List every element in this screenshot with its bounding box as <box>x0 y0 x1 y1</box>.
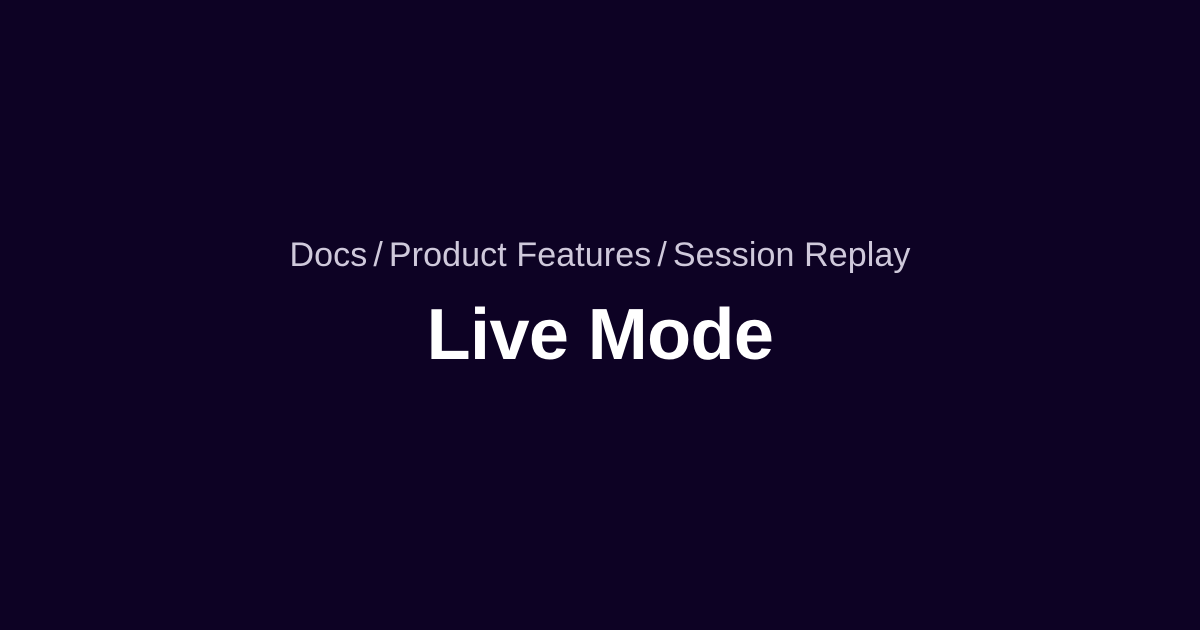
breadcrumb-separator: / <box>651 236 673 274</box>
breadcrumb-item-product-features[interactable]: Product Features <box>389 236 651 274</box>
breadcrumb-item-session-replay[interactable]: Session Replay <box>673 236 911 274</box>
og-card: Docs/Product Features/Session Replay Liv… <box>0 0 1200 630</box>
breadcrumb-item-docs[interactable]: Docs <box>289 236 367 274</box>
card-content: Docs/Product Features/Session Replay Liv… <box>0 235 1200 375</box>
breadcrumb-separator: / <box>367 236 389 274</box>
breadcrumb: Docs/Product Features/Session Replay <box>289 235 910 275</box>
page-title: Live Mode <box>427 297 774 375</box>
